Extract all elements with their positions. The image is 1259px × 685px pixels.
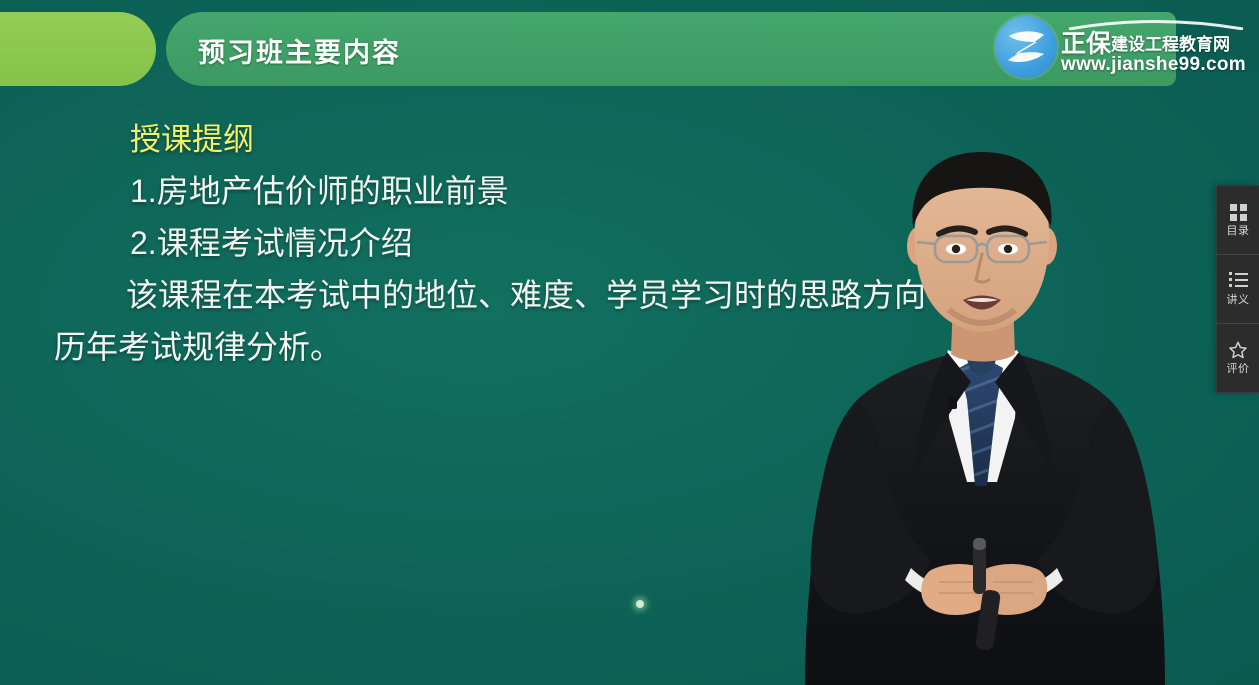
sidebar-item-contents[interactable]: 目录 xyxy=(1217,186,1259,254)
slide-header: 预习班主要内容 正保建设工程教育网 www.jianshe99.com xyxy=(0,0,1259,92)
sidebar-item-handout-label: 讲义 xyxy=(1227,294,1250,307)
video-player-stage: 预习班主要内容 正保建设工程教育网 www.jianshe99.com 授课提纲… xyxy=(0,0,1259,685)
laser-pointer-dot xyxy=(636,600,644,608)
sidebar-item-handout[interactable]: 讲义 xyxy=(1217,254,1259,323)
lapel-microphone xyxy=(948,396,957,409)
page-title: 预习班主要内容 xyxy=(198,31,401,70)
slide-line-2: 2.课程考试情况介绍 xyxy=(130,218,413,268)
grid-icon xyxy=(1230,202,1247,222)
sidebar-item-contents-label: 目录 xyxy=(1227,225,1250,238)
sidebar-item-rating[interactable]: 评价 xyxy=(1217,323,1259,392)
list-icon xyxy=(1229,271,1248,291)
header-accent-pill xyxy=(0,12,156,86)
brand-logo: 正保建设工程教育网 www.jianshe99.com xyxy=(995,12,1253,84)
right-side-panel: 目录 讲义 评价 xyxy=(1216,185,1259,393)
brand-name-secondary: 建设工程教育网 xyxy=(1111,35,1230,54)
z-swoosh-logo-icon xyxy=(995,16,1057,78)
instructor-figure xyxy=(735,150,1235,685)
slide-line-4: 历年考试规律分析。 xyxy=(54,322,342,372)
slide-heading: 授课提纲 xyxy=(130,114,254,159)
star-icon xyxy=(1228,340,1248,360)
sidebar-item-rating-label: 评价 xyxy=(1227,363,1250,376)
slide-line-1: 1.房地产估价师的职业前景 xyxy=(130,166,509,216)
brand-url: www.jianshe99.com xyxy=(1061,54,1246,76)
